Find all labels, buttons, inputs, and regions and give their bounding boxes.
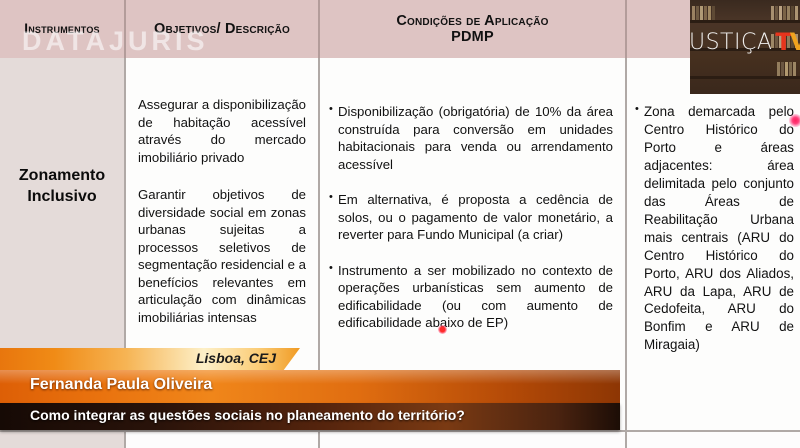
books-row [771, 6, 798, 20]
books-row [692, 6, 715, 20]
shelf-line [690, 20, 800, 23]
books-row [771, 34, 798, 48]
speaker-name: Fernanda Paula Oliveira [30, 376, 212, 394]
next-row-divider-3 [625, 432, 627, 448]
table-cell-scope: Zona demarcada pelo Centro Histórico do … [627, 58, 800, 430]
conditions-list: Disponibilização (obrigatória) de 10% da… [329, 103, 613, 332]
list-item: Em alternativa, é proposta a cedência de… [329, 191, 613, 244]
next-row-cell-instrument [0, 432, 124, 448]
books-row [777, 62, 796, 76]
shelf-line [690, 76, 800, 79]
talk-title: Como integrar as questões sociais no pla… [30, 407, 465, 423]
next-row-divider-1 [124, 432, 126, 448]
webcam-video-overlay[interactable]: JUSTIÇA TV [690, 0, 800, 94]
table-header-instrumentos: Instrumentos [0, 0, 124, 58]
instrument-name-line1: Zonamento [0, 166, 124, 187]
location-tab: Lisboa, CEJ [0, 348, 300, 371]
list-item: Disponibilização (obrigatória) de 10% da… [329, 103, 613, 173]
shelf-line [690, 48, 800, 51]
table-header-condicoes-line2: PDMP [451, 29, 494, 45]
scope-list: Zona demarcada pelo Centro Histórico do … [635, 103, 794, 354]
next-row-divider-2 [318, 432, 320, 448]
objective-paragraph: Garantir objetivos de diversidade social… [138, 186, 306, 326]
webcam-scene: JUSTIÇA TV [690, 0, 800, 94]
table-header-row: Instrumentos Objetivos/ Descrição Condiç… [0, 0, 800, 60]
instrument-name-line2: Inclusivo [0, 187, 124, 208]
lower-third-banner: Lisboa, CEJ Fernanda Paula Oliveira Como… [0, 348, 620, 430]
screen: Instrumentos Objetivos/ Descrição Condiç… [0, 0, 800, 448]
location-label: Lisboa, CEJ [196, 350, 276, 366]
speaker-bar: Fernanda Paula Oliveira [0, 370, 620, 403]
instrument-name: Zonamento Inclusivo [0, 166, 124, 208]
list-item: Instrumento a ser mobilizado no contexto… [329, 262, 613, 332]
list-item: Zona demarcada pelo Centro Histórico do … [635, 103, 794, 354]
table-header-condicoes-line1: Condições de Aplicação [396, 13, 548, 29]
title-bar: Como integrar as questões sociais no pla… [0, 403, 620, 430]
table-header-condicoes: Condições de Aplicação PDMP [320, 0, 625, 58]
table-next-row [0, 432, 800, 448]
table-header-objetivos: Objetivos/ Descrição [126, 0, 318, 58]
objective-paragraph: Assegurar a disponibilização de habitaçã… [138, 96, 306, 166]
